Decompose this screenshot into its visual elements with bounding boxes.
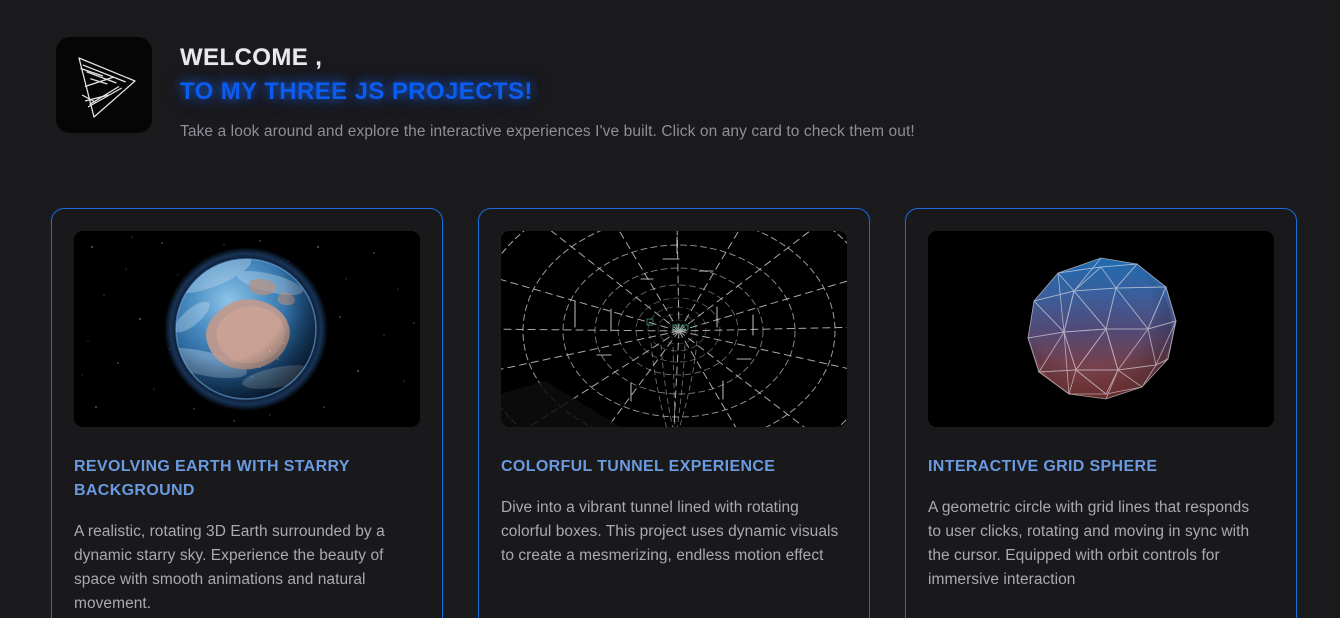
project-card-earth[interactable]: REVOLVING EARTH WITH STARRY BACKGROUND A… bbox=[51, 208, 443, 618]
card-description: A realistic, rotating 3D Earth surrounde… bbox=[74, 520, 396, 616]
project-card-tunnel[interactable]: COLORFUL TUNNEL EXPERIENCE Dive into a v… bbox=[478, 208, 870, 618]
page-header: WELCOME , TO MY THREE JS PROJECTS! Take … bbox=[0, 0, 1340, 170]
card-title: REVOLVING EARTH WITH STARRY BACKGROUND bbox=[74, 455, 374, 503]
projects-heading: TO MY THREE JS PROJECTS! bbox=[180, 76, 915, 108]
threejs-logo-icon bbox=[56, 37, 152, 133]
revolving-earth-thumbnail[interactable] bbox=[74, 231, 420, 427]
colorful-tunnel-thumbnail[interactable] bbox=[501, 231, 847, 427]
card-title: INTERACTIVE GRID SPHERE bbox=[928, 455, 1274, 479]
interactive-grid-sphere-thumbnail[interactable] bbox=[928, 231, 1274, 427]
card-description: A geometric circle with grid lines that … bbox=[928, 496, 1264, 592]
project-card-grid-sphere[interactable]: INTERACTIVE GRID SPHERE A geometric circ… bbox=[905, 208, 1297, 618]
card-description: Dive into a vibrant tunnel lined with ro… bbox=[501, 496, 847, 568]
header-tagline: Take a look around and explore the inter… bbox=[180, 123, 915, 141]
header-text-block: WELCOME , TO MY THREE JS PROJECTS! Take … bbox=[180, 37, 915, 141]
project-card-grid: REVOLVING EARTH WITH STARRY BACKGROUND A… bbox=[51, 208, 1298, 618]
card-title: COLORFUL TUNNEL EXPERIENCE bbox=[501, 455, 847, 479]
welcome-heading: WELCOME , bbox=[180, 42, 915, 74]
